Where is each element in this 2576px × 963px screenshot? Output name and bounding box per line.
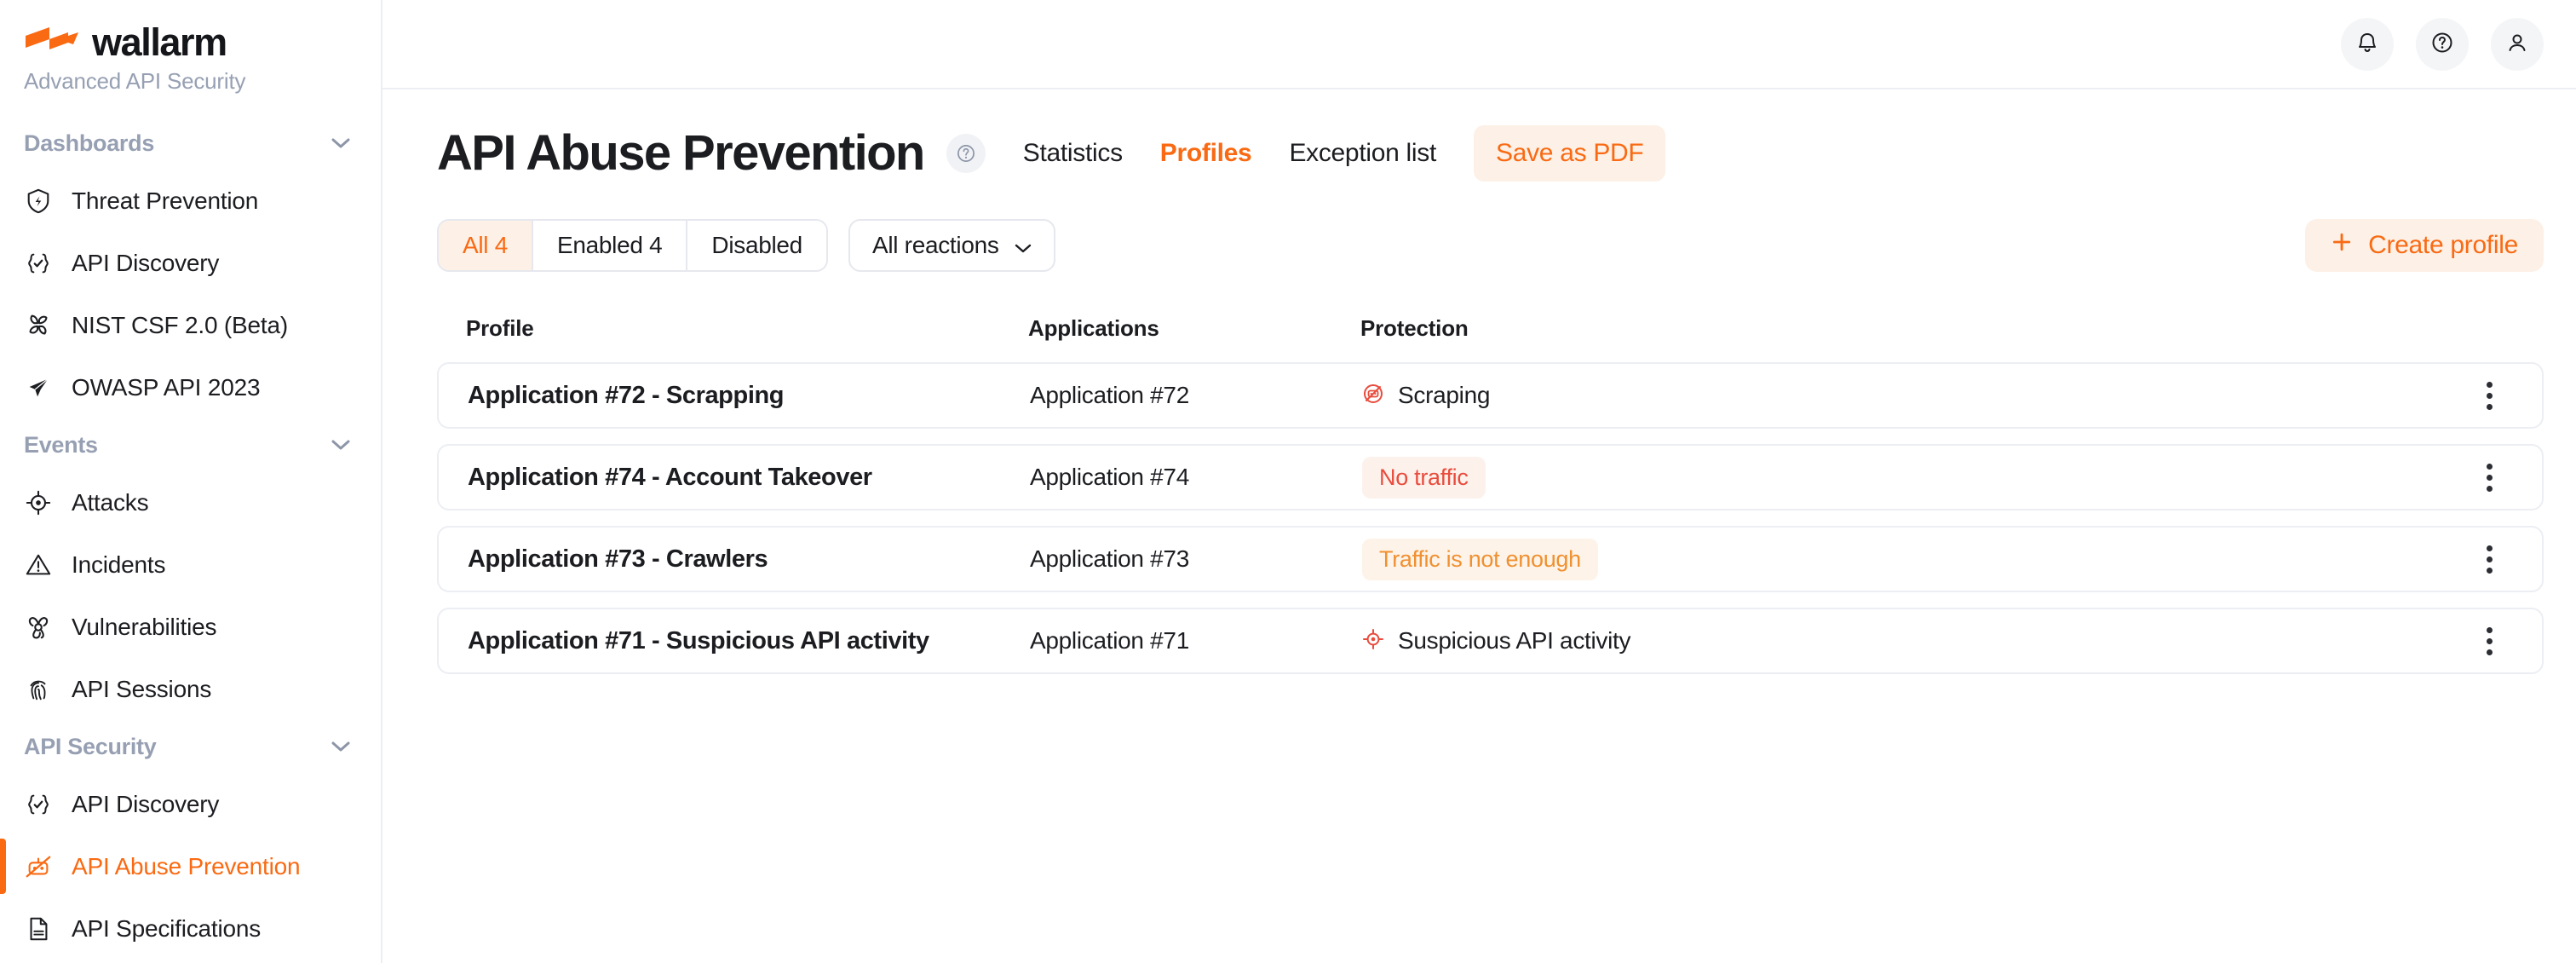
status-badge: No traffic [1362,457,1486,499]
braces-check-icon [24,249,53,278]
status-filter-group: All 4 Enabled 4 Disabled [437,219,828,272]
table-row[interactable]: Application #71 - Suspicious API activit… [437,608,2544,674]
sidebar-item-label: OWASP API 2023 [72,374,260,401]
save-as-pdf-button[interactable]: Save as PDF [1474,125,1665,182]
protection-label: Scraping [1398,382,1490,409]
sidebar-item-label: API Discovery [72,250,219,277]
biohazard-icon [24,613,53,642]
table-row[interactable]: Application #73 - Crawlers Application #… [437,526,2544,592]
cell-protection: Suspicious API activity [1362,627,2465,654]
tab-statistics[interactable]: Statistics [1004,132,1141,175]
braces-check-icon [24,790,53,819]
topbar [382,0,2576,89]
target-icon [24,488,53,517]
table-header-row: Profile Applications Protection [437,309,2544,347]
column-header-profile: Profile [466,315,1028,342]
create-profile-button[interactable]: Create profile [2305,219,2544,272]
chevron-down-icon [331,138,350,149]
user-icon [2504,30,2530,58]
status-badge: Traffic is not enough [1362,539,1598,580]
plus-icon [2331,231,2353,260]
notifications-button[interactable] [2341,18,2394,71]
cell-application: Application #71 [1030,627,1362,654]
brand-name: wallarm [92,26,227,60]
bot-blocked-icon [1362,383,1384,409]
sidebar-item-label: API Sessions [72,676,211,703]
sidebar-item-label: Vulnerabilities [72,614,216,641]
tab-profiles[interactable]: Profiles [1141,132,1271,175]
kebab-menu-icon[interactable] [2465,372,2513,419]
page-tabs: Statistics Profiles Exception list [1004,132,1455,175]
cell-protection: No traffic [1362,457,2465,499]
shield-bolt-icon [24,187,53,216]
table-row[interactable]: Application #72 - Scrapping Application … [437,362,2544,429]
cell-protection: Traffic is not enough [1362,539,2465,580]
sidebar-item-label: NIST CSF 2.0 (Beta) [72,312,288,339]
kebab-menu-icon[interactable] [2465,535,2513,583]
column-header-protection: Protection [1360,315,2447,342]
sidebar-group-events[interactable]: Events [0,418,381,471]
sidebar-group-label: API Security [24,734,156,760]
page-help-icon[interactable] [946,134,986,173]
target-icon [1362,628,1384,654]
bot-blocked-icon [24,852,53,881]
sidebar-item-api-sessions[interactable]: API Sessions [0,658,381,720]
question-circle-icon [2429,30,2455,58]
filters-toolbar: All 4 Enabled 4 Disabled All reactions C… [437,219,2544,272]
sidebar-item-attacks[interactable]: Attacks [0,471,381,533]
cell-profile-name: Application #74 - Account Takeover [468,464,1030,492]
sidebar-item-label: API Abuse Prevention [72,853,300,880]
help-button[interactable] [2416,18,2469,71]
sidebar-item-owasp-api[interactable]: OWASP API 2023 [0,356,381,418]
account-button[interactable] [2491,18,2544,71]
sidebar-item-label: API Discovery [72,791,219,818]
cell-profile-name: Application #71 - Suspicious API activit… [468,627,1030,655]
document-icon [24,914,53,943]
sidebar-item-incidents[interactable]: Incidents [0,533,381,596]
create-profile-label: Create profile [2368,231,2518,260]
sidebar-nav: Dashboards Threat Prevention [0,117,381,960]
cell-application: Application #72 [1030,382,1362,409]
page-header: API Abuse Prevention Statistics Profiles… [437,89,2544,183]
sidebar-group-label: Events [24,432,98,458]
brand: wallarm Advanced API Security [0,0,381,95]
sidebar-item-api-specifications[interactable]: API Specifications [0,897,381,960]
sidebar-item-label: Attacks [72,489,148,516]
wallarm-logo-icon [24,26,80,60]
main-area: API Abuse Prevention Statistics Profiles… [382,0,2576,963]
page-title: API Abuse Prevention [437,124,924,183]
sidebar-item-api-discovery-dashboard[interactable]: API Discovery [0,232,381,294]
filter-disabled[interactable]: Disabled [687,221,826,270]
sidebar-group-dashboards[interactable]: Dashboards [0,117,381,170]
cell-application: Application #74 [1030,464,1362,491]
sidebar-item-nist-csf[interactable]: NIST CSF 2.0 (Beta) [0,294,381,356]
chevron-down-icon [331,440,350,451]
sidebar-item-label: Threat Prevention [72,187,258,215]
fingerprint-icon [24,675,53,704]
bell-icon [2355,30,2380,58]
protection-label: Suspicious API activity [1398,627,1630,654]
cell-protection: Scraping [1362,382,2465,409]
sidebar-item-api-discovery[interactable]: API Discovery [0,773,381,835]
tab-exception-list[interactable]: Exception list [1270,132,1455,175]
nist-pinwheel-icon [24,311,53,340]
warning-triangle-icon [24,551,53,580]
sidebar-item-vulnerabilities[interactable]: Vulnerabilities [0,596,381,658]
profiles-table: Profile Applications Protection Applicat… [437,309,2544,674]
filter-all[interactable]: All 4 [439,221,533,270]
cell-profile-name: Application #73 - Crawlers [468,545,1030,574]
cell-profile-name: Application #72 - Scrapping [468,382,1030,410]
sidebar-group-label: Dashboards [24,130,154,157]
sidebar: wallarm Advanced API Security Dashboards… [0,0,382,963]
sidebar-item-label: Incidents [72,551,165,579]
column-header-applications: Applications [1028,315,1360,342]
sidebar-group-api-security[interactable]: API Security [0,720,381,773]
sidebar-item-label: API Specifications [72,915,261,943]
chevron-down-icon [1015,232,1032,259]
reactions-filter-label: All reactions [872,232,999,259]
sidebar-item-api-abuse-prevention[interactable]: API Abuse Prevention [0,835,381,897]
page-content: API Abuse Prevention Statistics Profiles… [382,89,2576,674]
kebab-menu-icon[interactable] [2465,617,2513,665]
reactions-filter-dropdown[interactable]: All reactions [848,219,1055,272]
app-root: wallarm Advanced API Security Dashboards… [0,0,2576,963]
filter-enabled[interactable]: Enabled 4 [533,221,687,270]
chevron-down-icon [331,741,350,753]
kebab-menu-icon[interactable] [2465,453,2513,501]
sidebar-item-threat-prevention[interactable]: Threat Prevention [0,170,381,232]
cell-application: Application #73 [1030,545,1362,573]
brand-tagline: Advanced API Security [24,68,381,95]
table-row[interactable]: Application #74 - Account Takeover Appli… [437,444,2544,510]
paper-plane-icon [24,373,53,402]
